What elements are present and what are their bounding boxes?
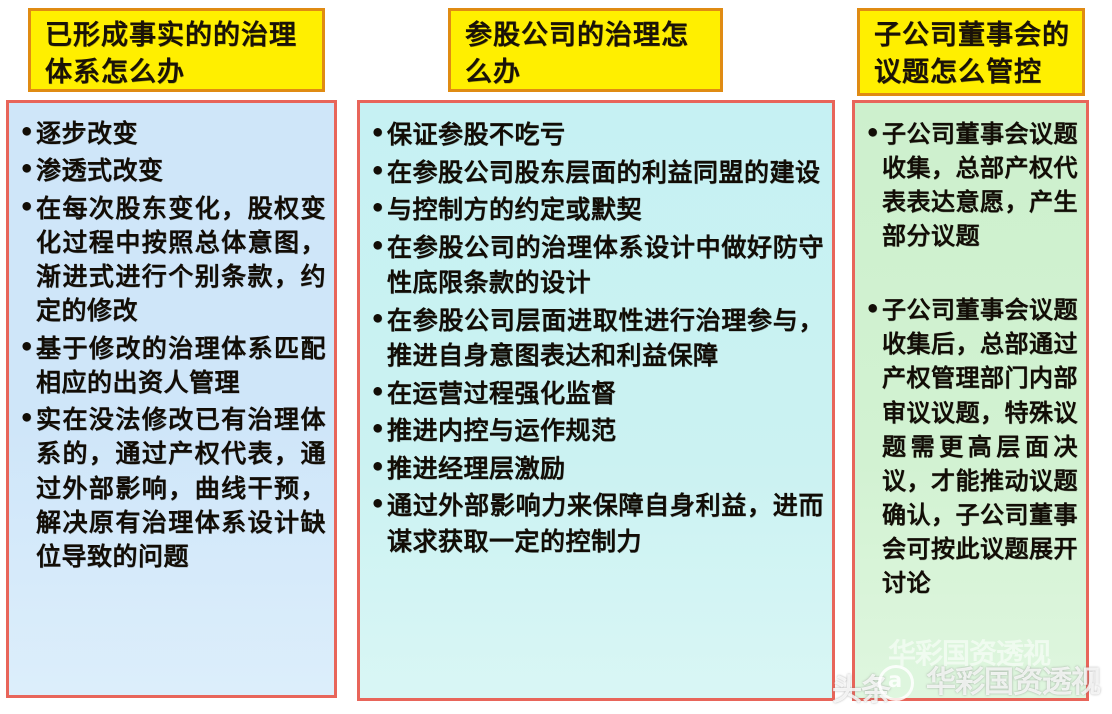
list-item: 保证参股不吃亏	[370, 117, 824, 153]
list-item: 渗透式改变	[19, 154, 326, 188]
column-3-header: 子公司董事会的议题怎么管控	[857, 8, 1085, 96]
list-item: 在运营过程强化监督	[370, 376, 824, 412]
column-2-bullet-list: 保证参股不吃亏 在参股公司股东层面的利益同盟的建设 与控制方的约定或默契 在参股…	[370, 117, 824, 559]
list-item: 推进内控与运作规范	[370, 413, 824, 449]
column-2-body: 保证参股不吃亏 在参股公司股东层面的利益同盟的建设 与控制方的约定或默契 在参股…	[357, 100, 835, 701]
column-1-bullet-list: 逐步改变 渗透式改变 在每次股东变化，股权变化过程中按照总体意图，渐进式进行个别…	[19, 117, 326, 574]
list-item: 在参股公司层面进取性进行治理参与，推进自身意图表达和利益保障	[370, 303, 824, 374]
list-item: 基于修改的治理体系匹配相应的出资人管理	[19, 332, 326, 401]
list-item: 推进经理层激励	[370, 451, 824, 487]
slide-canvas: 已形成事实的的治理体系怎么办 参股公司的治理怎么办 子公司董事会的议题怎么管控 …	[0, 0, 1112, 714]
list-item: 子公司董事会议题收集后，总部通过产权管理部门内部审议议题，特殊议题需更高层面决议…	[865, 293, 1078, 600]
list-item: 在参股公司的治理体系设计中做好防守性底限条款的设计	[370, 230, 824, 301]
list-item: 子公司董事会议题收集，总部产权代表表达意愿，产生部分议题	[865, 117, 1078, 253]
list-item: 与控制方的约定或默契	[370, 192, 824, 228]
list-item: 实在没法修改已有治理体系的，通过产权代表，通过外部影响，曲线干预，解决原有治理体…	[19, 403, 326, 574]
column-1-header: 已形成事实的的治理体系怎么办	[28, 8, 325, 92]
column-1-body: 逐步改变 渗透式改变 在每次股东变化，股权变化过程中按照总体意图，渐进式进行个别…	[6, 100, 337, 698]
column-2-header: 参股公司的治理怎么办	[448, 8, 723, 92]
column-3-bullet-list: 子公司董事会议题收集，总部产权代表表达意愿，产生部分议题 子公司董事会议题收集后…	[865, 117, 1078, 600]
list-item: 在参股公司股东层面的利益同盟的建设	[370, 155, 824, 191]
list-item: 在每次股东变化，股权变化过程中按照总体意图，渐进式进行个别条款，约定的修改	[19, 192, 326, 329]
column-3-body: 子公司董事会议题收集，总部产权代表表达意愿，产生部分议题 子公司董事会议题收集后…	[852, 100, 1089, 701]
list-item: 通过外部影响力来保障自身利益，进而谋求获取一定的控制力	[370, 488, 824, 559]
list-item: 逐步改变	[19, 117, 326, 151]
